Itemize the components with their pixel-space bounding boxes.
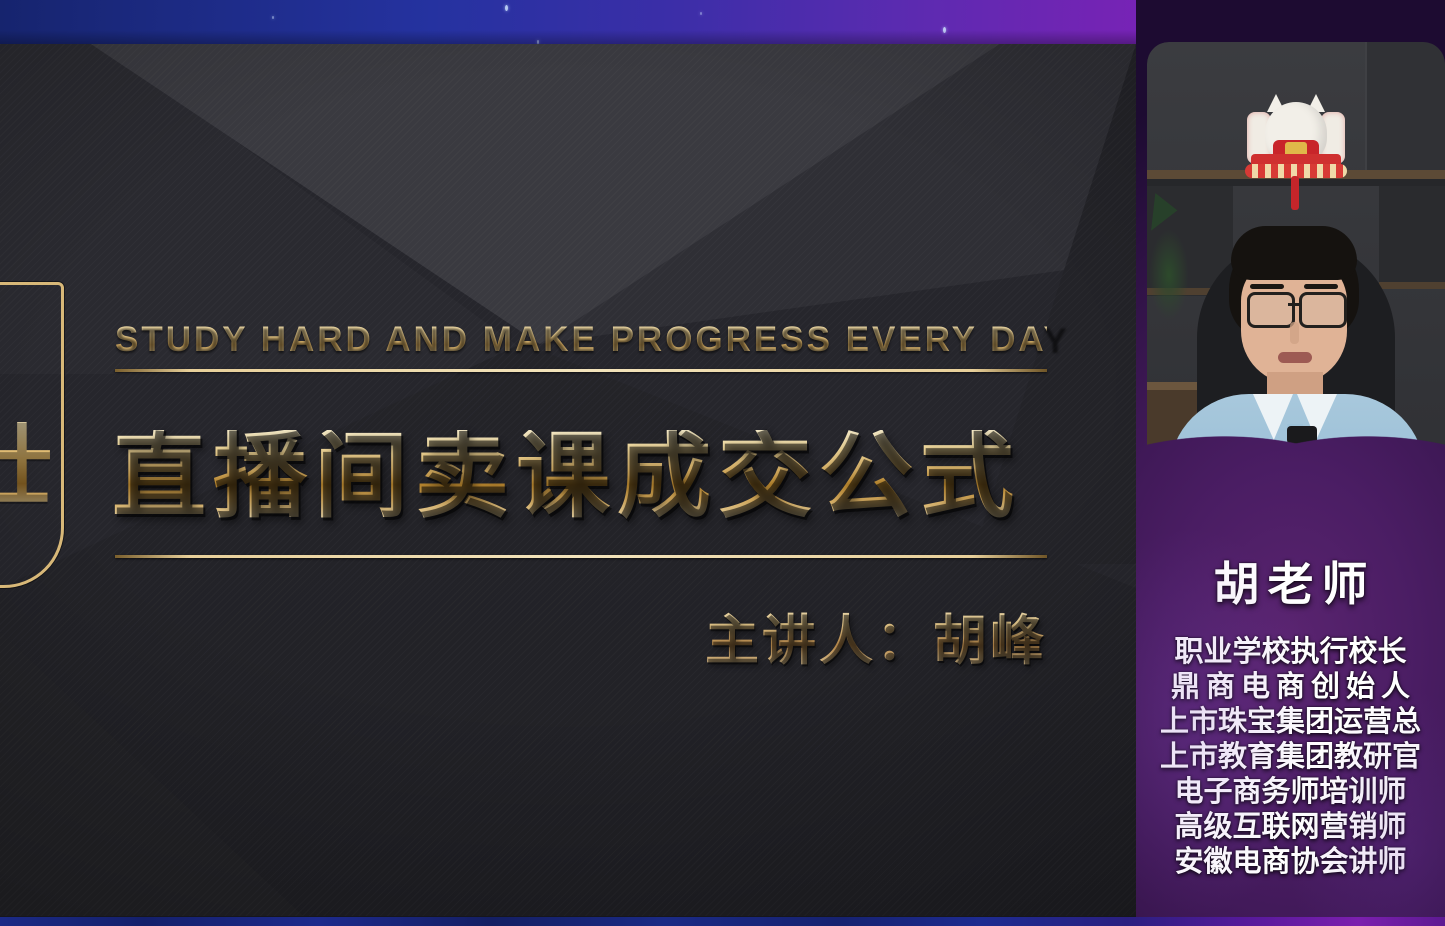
person-left-eyebrow: [1250, 284, 1284, 289]
slide-eyebrow-text: STUDY HARD AND MAKE PROGRESS EVERY DAY: [115, 320, 1047, 360]
lucky-cat-tassel: [1291, 176, 1299, 210]
shelf-compartment-lower-right: [1379, 186, 1445, 282]
shirt-logo: [1343, 454, 1359, 470]
star-dot: [505, 5, 508, 11]
shirt-button-bottom: [1292, 484, 1299, 491]
gold-rule-top: [115, 369, 1047, 372]
livestream-screen: 壮 STUDY HARD AND MAKE PROGRESS EVERY DAY…: [0, 0, 1445, 926]
potted-plant: [1147, 210, 1197, 340]
shirt-button-top: [1292, 452, 1299, 459]
gold-rule-bottom: [115, 555, 1047, 558]
person-nose: [1290, 322, 1299, 344]
credential-line: 职业学校执行校长: [1138, 634, 1443, 669]
shelf-board-lower-right: [1379, 282, 1445, 289]
credential-line: 上市珠宝集团运营总: [1138, 704, 1443, 739]
star-dot: [272, 16, 274, 19]
person-hair-front: [1231, 226, 1357, 280]
credential-line: 安徽电商协会讲师: [1138, 844, 1443, 879]
slide-presenter-line: 主讲人：胡峰: [115, 596, 1047, 675]
star-dot: [943, 27, 946, 33]
credential-line: 高级互联网营销师: [1138, 809, 1443, 844]
eyeglasses-left-lens: [1247, 292, 1295, 328]
presenter-info-panel: 胡老师 职业学校执行校长鼎商电商创始人上市珠宝集团运营总上市教育集团教研官电子商…: [1136, 0, 1445, 926]
bottom-color-strip: [0, 917, 1445, 926]
credential-line: 电子商务师培训师: [1138, 774, 1443, 809]
person-mouth: [1278, 352, 1312, 363]
credentials-list: 职业学校执行校长鼎商电商创始人上市珠宝集团运营总上市教育集团教研官电子商务师培训…: [1136, 634, 1445, 879]
star-dot: [700, 12, 702, 15]
clip-on-lapel-mic: [1287, 426, 1317, 444]
presentation-slide[interactable]: 壮 STUDY HARD AND MAKE PROGRESS EVERY DAY…: [0, 44, 1136, 916]
slide-text-block: STUDY HARD AND MAKE PROGRESS EVERY DAY 直…: [0, 44, 1136, 916]
slide-main-title: 直播间卖课成交公式: [112, 430, 1052, 524]
eyeglasses-right-lens: [1299, 292, 1347, 328]
teacher-name: 胡老师: [1136, 548, 1445, 614]
presenter-video-tile[interactable]: [1147, 42, 1445, 514]
shelf-compartment-right: [1365, 42, 1445, 170]
eyeglasses-bridge: [1288, 303, 1301, 306]
person-right-eyebrow: [1304, 284, 1338, 289]
credential-line: 上市教育集团教研官: [1138, 739, 1443, 774]
credential-line: 鼎商电商创始人: [1138, 669, 1443, 704]
